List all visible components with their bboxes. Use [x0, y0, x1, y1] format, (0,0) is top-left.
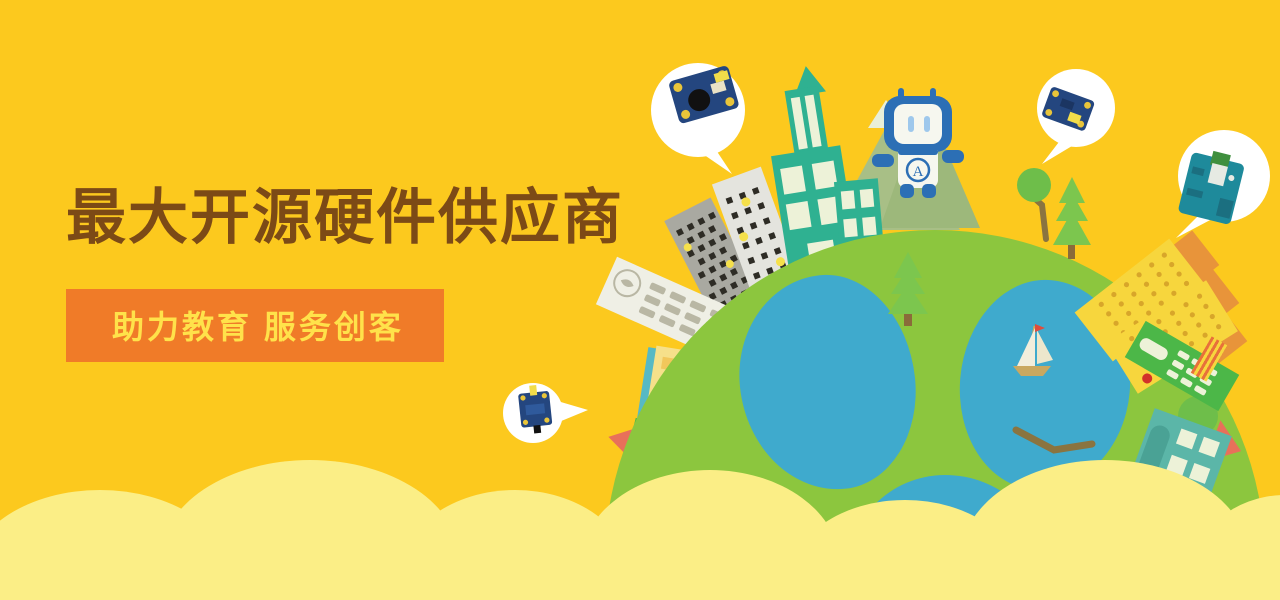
cloud-base — [0, 530, 1280, 600]
sailboat-icon — [1005, 320, 1065, 380]
tagline-badge: 助力教育 服务创客 — [66, 289, 444, 362]
tagline-wrapper: 助力教育 服务创客 — [66, 289, 624, 362]
bubble-sensor-module-top-right — [1030, 68, 1116, 168]
hero-banner: A — [0, 0, 1280, 600]
cloud-band — [0, 440, 1280, 600]
bubble-sensor-module-lower-left — [500, 382, 592, 444]
pine-tree-right — [1048, 175, 1096, 261]
page-title: 最大开源硬件供应商 — [66, 186, 624, 249]
bubble-arduino-board-right — [1168, 126, 1272, 244]
hero-text-block: 最大开源硬件供应商 助力教育 服务创客 — [66, 186, 624, 362]
pine-tree-on-globe — [884, 250, 930, 328]
svg-text:A: A — [913, 164, 924, 180]
robot-mascot: A — [872, 84, 964, 199]
bubble-sensor-module-top-left — [650, 62, 750, 182]
